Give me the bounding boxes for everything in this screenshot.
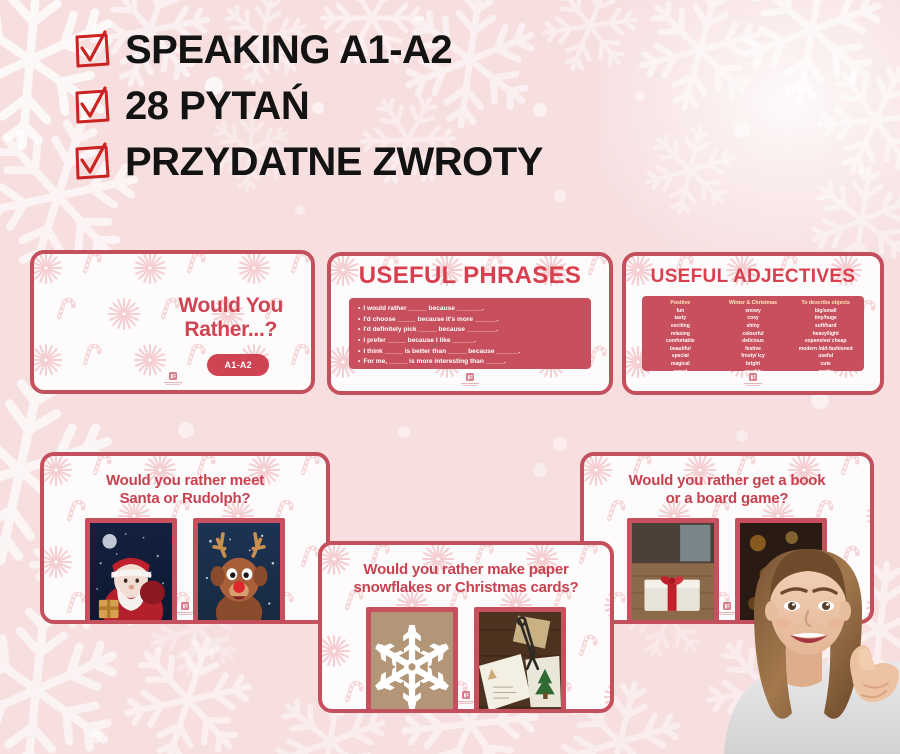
adjective-word: cute [789, 361, 862, 369]
christmas-cards-photo [474, 607, 566, 713]
adjective-word: sweet [644, 369, 717, 377]
question-line-1: Would you rather make paper [332, 561, 600, 579]
adjective-column: To describe objects big/smalltiny/hugeso… [789, 300, 862, 367]
question-text: Would you rather make paper snowflakes o… [332, 561, 600, 598]
question-line-1: Would you rather get a book [594, 472, 860, 490]
adjective-column-head: To describe objects [789, 300, 862, 308]
checkbox-checked-icon [72, 86, 112, 126]
phrase-item: I prefer _____ because I like ______. [358, 336, 582, 347]
phrase-item: For me, _____ is more interesting than _… [358, 357, 582, 368]
adjective-column: Winter & Christmas snowycosyshinycolourf… [717, 300, 790, 367]
adjective-word: tasty-looking [789, 384, 862, 392]
adjective-word: soft/hard [789, 323, 862, 331]
adjective-word: snowy [717, 308, 790, 316]
question-text: Would you rather meet Santa or Rudolph? [54, 472, 316, 509]
adjective-word: modern /old-fashioned [789, 346, 862, 354]
title-line-2: Rather...? [178, 318, 283, 342]
question-text: Would you rather get a book or a board g… [594, 472, 860, 509]
adjective-word: big/small [789, 308, 862, 316]
adjectives-heading: USEFUL ADJECTIVES [626, 267, 880, 286]
headline-text: SPEAKING A1-A2 [125, 30, 452, 70]
adjective-word: frosty/ icy [717, 353, 790, 361]
headline-row: SPEAKING A1-A2 [72, 22, 543, 78]
checkbox-checked-icon [72, 142, 112, 182]
adjective-column-head: Positive [644, 300, 717, 308]
question-line-2: or a board game? [594, 490, 860, 508]
smiling-woman-thumbs-up-photo [714, 527, 900, 754]
phrase-item: I would rather _____ because _______. [358, 304, 582, 315]
headline-row: 28 PYTAŃ [72, 78, 543, 134]
adjective-word: fun [644, 308, 717, 316]
phrase-item: I'd choose _____ because it's more _____… [358, 315, 582, 326]
adjective-word: useful [789, 353, 862, 361]
adjective-word: bright [717, 361, 790, 369]
adjective-word: heavy/light [789, 331, 862, 339]
wrapped-gift-photo [627, 518, 719, 624]
adjective-word: delicious [717, 338, 790, 346]
phrases-heading: USEFUL PHRASES [331, 264, 609, 288]
headline-checklist: SPEAKING A1-A2 28 PYTAŃ PRZYDATNE ZWROTY [72, 22, 543, 190]
headline-text: 28 PYTAŃ [125, 86, 309, 126]
phrase-item: I think _____ is better than _____ becau… [358, 347, 582, 358]
poster-stage: SPEAKING A1-A2 28 PYTAŃ PRZYDATNE ZWROTY [0, 0, 900, 754]
slide-card-useful-phrases[interactable]: USEFUL PHRASES I would rather _____ beca… [327, 252, 613, 395]
adjective-word: expensive/ cheap [789, 338, 862, 346]
brand-logo-watermark [740, 372, 766, 388]
adjective-word: relaxing [644, 331, 717, 339]
question-line-2: Santa or Rudolph? [54, 490, 316, 508]
slide-card-question-snowflakes[interactable]: Would you rather make paper snowflakes o… [318, 541, 614, 713]
rudolph-reindeer-photo [193, 518, 285, 624]
adjective-column: Positive funtastyexcitingrelaxingcomfort… [644, 300, 717, 367]
adjectives-panel: Positive funtastyexcitingrelaxingcomfort… [642, 296, 864, 371]
brand-logo-watermark [172, 601, 198, 617]
adjective-word: special [644, 353, 717, 361]
question-line-2: snowflakes or Christmas cards? [332, 579, 600, 597]
adjective-word: beautiful [644, 346, 717, 354]
adjective-word: enjoyable [644, 384, 717, 392]
slide-card-title[interactable]: Would You Rather...? A1-A2 [30, 250, 315, 394]
adjective-word: pretty [789, 369, 862, 377]
adjective-word: comfortable [644, 338, 717, 346]
checkbox-checked-icon [72, 30, 112, 70]
slide-card-useful-adjectives[interactable]: USEFUL ADJECTIVES Positive funtastyexcit… [622, 252, 884, 395]
headline-text: PRZYDATNE ZWROTY [125, 142, 543, 182]
adjective-word: colourful [717, 331, 790, 339]
paper-snowflake-photo [366, 607, 458, 713]
adjective-word: magical [644, 361, 717, 369]
adjective-word-list: big/smalltiny/hugesoft/hardheavy/lightex… [789, 308, 862, 392]
brand-logo-watermark [457, 372, 483, 388]
question-line-1: Would you rather meet [54, 472, 316, 490]
santa-claus-photo [85, 518, 177, 624]
adjective-column-head: Winter & Christmas [717, 300, 790, 308]
level-badge: A1-A2 [207, 354, 269, 376]
slide-card-question-santa[interactable]: Would you rather meet Santa or Rudolph? [40, 452, 330, 624]
title-line-1: Would You [178, 294, 283, 318]
adjective-word: exciting [644, 323, 717, 331]
phrase-item: I'd definitely pick _____ because ______… [358, 325, 582, 336]
brand-logo-watermark [453, 690, 479, 706]
adjective-word: shiny [717, 323, 790, 331]
adjective-word-list: funtastyexcitingrelaxingcomfortablebeaut… [644, 308, 717, 392]
adjective-word: tiny/huge [789, 315, 862, 323]
adjective-word: cosy [717, 315, 790, 323]
brand-logo-watermark [160, 371, 186, 387]
adjective-word: fluffy [789, 376, 862, 384]
headline-row: PRZYDATNE ZWROTY [72, 134, 543, 190]
adjective-word: tasty [644, 315, 717, 323]
phrases-panel: I would rather _____ because _______. I'… [349, 298, 591, 369]
adjective-word: warm [644, 376, 717, 384]
adjective-word: festive [717, 346, 790, 354]
slide-title-text: Would You Rather...? [178, 294, 283, 341]
